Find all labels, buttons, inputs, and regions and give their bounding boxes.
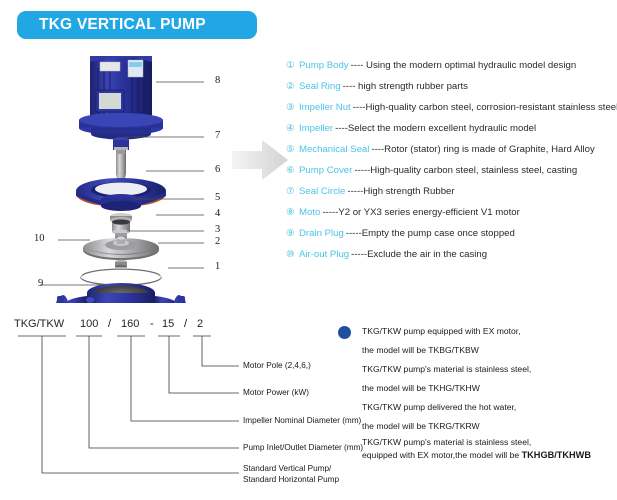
list-item-description: ----High-quality carbon steel, corrosion… (353, 102, 617, 113)
list-item-part-name: Seal Circle (299, 186, 345, 197)
leader-label-pump-standard: Standard Vertical Pump/ Standard Horizon… (243, 464, 339, 485)
list-item-part-name: Seal Ring (299, 81, 341, 92)
list-item-number: ⑦ (286, 186, 299, 197)
callout-5: 5 (215, 192, 220, 203)
list-item: ③ Impeller Nut ----High-quality carbon s… (286, 102, 616, 123)
model-nomenclature: TKG/TKW 100 / 160 - 15 / 2 Motor P (14, 318, 314, 493)
callout-9: 9 (38, 278, 43, 289)
note-line: TKG/TKW pump equipped with EX motor, (338, 322, 613, 341)
list-item: ⑩ Air-out Plug -----Exclude the air in t… (286, 249, 616, 270)
list-item: ① Pump Body ---- Using the modern optima… (286, 60, 616, 81)
list-item-description: ----Rotor (stator) ring is made of Graph… (371, 144, 594, 155)
list-item: ⑨ Drain Plug -----Empty the pump case on… (286, 228, 616, 249)
list-item: ⑦ Seal Circle -----High strength Rubber (286, 186, 616, 207)
list-item-number: ③ (286, 102, 299, 113)
list-item: ② Seal Ring ---- high strength rubber pa… (286, 81, 616, 102)
list-item-number: ⑤ (286, 144, 299, 155)
callout-8: 8 (215, 75, 220, 86)
note-line: the model will be TKBG/TKBW (338, 341, 613, 360)
leader-label-line-2: Standard Horizontal Pump (243, 475, 339, 484)
list-item: ④ Impeller ----Select the modern excelle… (286, 123, 616, 144)
list-item-part-name: Impeller Nut (299, 102, 351, 113)
callout-1: 1 (215, 261, 220, 272)
note-final-model: TKHGB/TKHWB (522, 450, 591, 460)
note-line-final: equipped with EX motor,the model will be… (338, 449, 613, 462)
list-item-part-name: Impeller (299, 123, 333, 134)
callout-6: 6 (215, 164, 220, 175)
list-item-description: -----High-quality carbon steel, stainles… (354, 165, 577, 176)
list-item-part-name: Pump Body (299, 60, 349, 71)
callout-3: 3 (215, 224, 220, 235)
list-item-number: ⑩ (286, 249, 299, 260)
leader-label-motor-pole: Motor Pole (2,4,6,) (243, 361, 311, 372)
list-item-description: -----Empty the pump case once stopped (346, 228, 515, 239)
list-item-description: -----Y2 or YX3 series energy-efficient V… (322, 207, 519, 218)
leader-label-line-1: Standard Vertical Pump/ (243, 464, 331, 473)
list-item-part-name: Pump Cover (299, 165, 352, 176)
note-line: TKG/TKW pump's material is stainless ste… (338, 436, 613, 449)
page-title-banner: TKG VERTICAL PUMP (17, 11, 257, 39)
list-item-number: ⑥ (286, 165, 299, 176)
list-item-part-name: Moto (299, 207, 320, 218)
list-item-description: ---- high strength rubber parts (343, 81, 468, 92)
list-item-part-name: Air-out Plug (299, 249, 349, 260)
note-line: TKG/TKW pump's material is stainless ste… (338, 360, 613, 379)
model-variant-notes: TKG/TKW pump equipped with EX motor, the… (338, 322, 613, 462)
list-item-description: ----Select the modern excellent hydrauli… (335, 123, 536, 134)
bullet-circle-icon (338, 326, 351, 339)
list-item-part-name: Drain Plug (299, 228, 344, 239)
list-item-description: -----High strength Rubber (347, 186, 454, 197)
list-item: ⑧ Moto -----Y2 or YX3 series energy-effi… (286, 207, 616, 228)
right-arrow-icon (232, 138, 288, 182)
callout-4: 4 (215, 208, 220, 219)
list-item-description: -----Exclude the air in the casing (351, 249, 487, 260)
list-item-number: ① (286, 60, 299, 71)
list-item: ⑥ Pump Cover -----High-quality carbon st… (286, 165, 616, 186)
list-item-number: ⑧ (286, 207, 299, 218)
pump-exploded-diagram (28, 48, 233, 303)
leader-label-motor-power: Motor Power (kW) (243, 388, 309, 399)
callout-2: 2 (215, 236, 220, 247)
list-item-number: ⑨ (286, 228, 299, 239)
list-item-part-name: Mechanical Seal (299, 144, 369, 155)
list-item-number: ④ (286, 123, 299, 134)
list-item-number: ② (286, 81, 299, 92)
list-item-description: ---- Using the modern optimal hydraulic … (351, 60, 577, 71)
product-spec-page: TKG VERTICAL PUMP (0, 0, 617, 500)
note-final-prefix: equipped with EX motor,the model will be (362, 450, 522, 460)
parts-list: ① Pump Body ---- Using the modern optima… (286, 60, 616, 270)
note-line: TKG/TKW pump delivered the hot water, (338, 398, 613, 417)
note-line: the model will be TKHG/TKHW (338, 379, 613, 398)
callout-10: 10 (34, 233, 45, 244)
callout-7: 7 (215, 130, 220, 141)
note-line: the model will be TKRG/TKRW (338, 417, 613, 436)
list-item: ⑤ Mechanical Seal ----Rotor (stator) rin… (286, 144, 616, 165)
page-title: TKG VERTICAL PUMP (17, 16, 206, 34)
